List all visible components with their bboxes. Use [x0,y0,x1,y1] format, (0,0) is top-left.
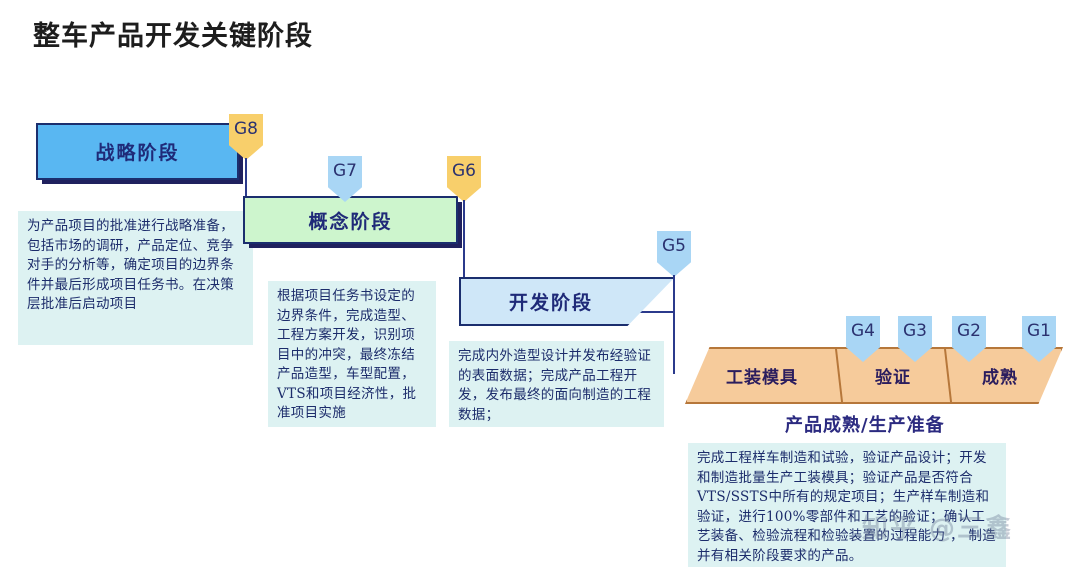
slide-canvas: 整车产品开发关键阶段 战略阶段 G8 为产品项目的批准进行战略准备，包括市场的调… [0,0,1080,578]
maturity-cell-tooling[interactable]: 工装模具 [703,349,821,402]
note-concept: 根据项目任务书设定的边界条件，完成造型、工程方案开发，识别项目中的冲突，最终冻结… [268,281,436,427]
maturity-label-validation: 验证 [875,363,911,388]
gate-label-g6: G6 [452,161,476,181]
note-development: 完成内外造型设计并发布经验证的表面数据；完成产品工程开发，发布最终的面向制造的工… [449,341,664,427]
phase-bar-concept[interactable]: 概念阶段 [243,196,458,244]
phase-label-strategy: 战略阶段 [95,138,179,165]
maturity-parallelogram[interactable]: 工装模具 验证 成熟 [685,347,1063,404]
gate-marker-g5[interactable]: G5 [657,231,691,277]
maturity-label-mature: 成熟 [982,363,1018,388]
page-title: 整车产品开发关键阶段 [33,14,313,53]
gate-label-g1: G1 [1027,321,1051,341]
gate-label-g8: G8 [234,119,258,139]
phase-label-concept: 概念阶段 [308,207,392,234]
maturity-label-tooling: 工装模具 [726,363,798,388]
note-strategy: 为产品项目的批准进行战略准备，包括市场的调研，产品定位、竞争对手的分析等，确定项… [18,211,253,345]
phase-bar-strategy[interactable]: 战略阶段 [36,123,239,180]
gate-label-g5: G5 [662,236,686,256]
note-maturity: 完成工程样车制造和试验，验证产品设计；开发和制造批量生产工装模具；验证产品是否符… [688,443,1006,567]
maturity-cell-validation[interactable]: 验证 [839,349,947,402]
maturity-caption: 产品成熟/生产准备 [785,411,945,437]
gate-stem-g5 [673,275,675,374]
gate-label-g3: G3 [903,321,927,341]
phase-label-development: 开发阶段 [509,288,593,315]
phase-bar-development[interactable]: 开发阶段 [459,277,675,326]
watermark: 知乎 @三鑫 [862,508,1013,545]
gate-label-g4: G4 [851,321,875,341]
gate-label-g7: G7 [333,161,357,181]
gate-label-g2: G2 [957,321,981,341]
